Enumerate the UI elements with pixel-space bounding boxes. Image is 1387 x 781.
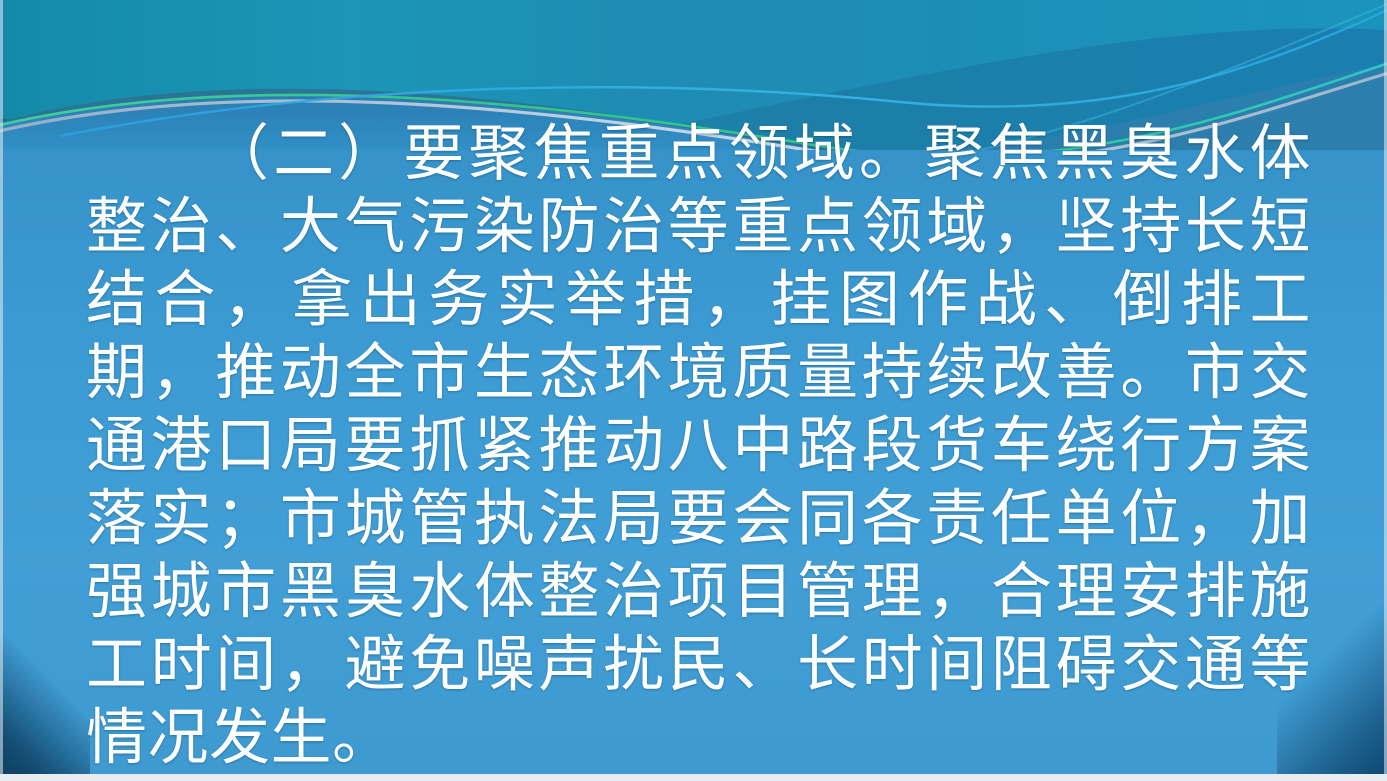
slide-edge-left xyxy=(0,0,3,781)
slide-bottom-rule xyxy=(0,774,1387,781)
body-paragraph: （二）要聚焦重点领域。聚焦黑臭水体整治、大气污染防治等重点领域，坚持长短结合，拿… xyxy=(86,118,1311,775)
presentation-slide: （二）要聚焦重点领域。聚焦黑臭水体整治、大气污染防治等重点领域，坚持长短结合，拿… xyxy=(0,0,1387,781)
slide-body: （二）要聚焦重点领域。聚焦黑臭水体整治、大气污染防治等重点领域，坚持长短结合，拿… xyxy=(86,118,1311,775)
